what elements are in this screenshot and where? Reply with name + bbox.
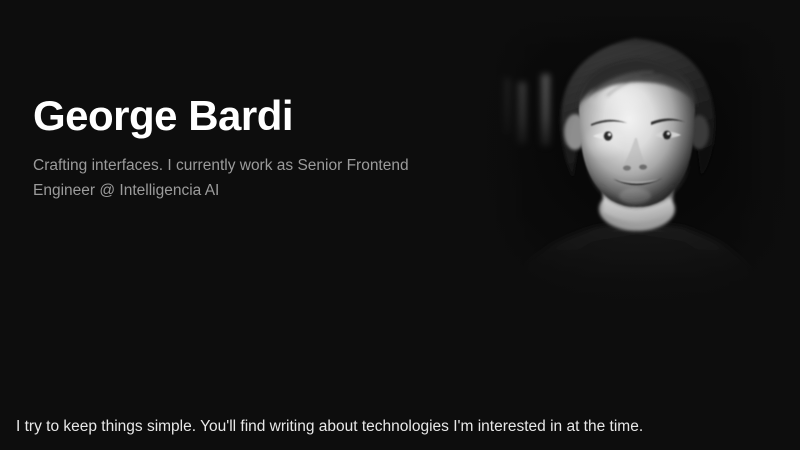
hero-text-block: George Bardi Crafting interfaces. I curr… <box>33 92 453 203</box>
portrait-illustration <box>487 16 787 306</box>
tagline-text: I try to keep things simple. You'll find… <box>0 417 643 437</box>
hero-subtitle: Crafting interfaces. I currently work as… <box>33 153 423 203</box>
portrait-torso <box>517 222 759 306</box>
hero-section: George Bardi Crafting interfaces. I curr… <box>0 0 800 320</box>
portrait-photo-container <box>487 16 787 306</box>
page-title: George Bardi <box>33 92 453 139</box>
page-root: George Bardi Crafting interfaces. I curr… <box>0 0 800 450</box>
avatar <box>487 16 787 306</box>
portrait-chin-highlight <box>619 188 651 204</box>
tagline-section: I try to keep things simple. You'll find… <box>0 405 800 450</box>
portrait-subject <box>487 16 787 306</box>
